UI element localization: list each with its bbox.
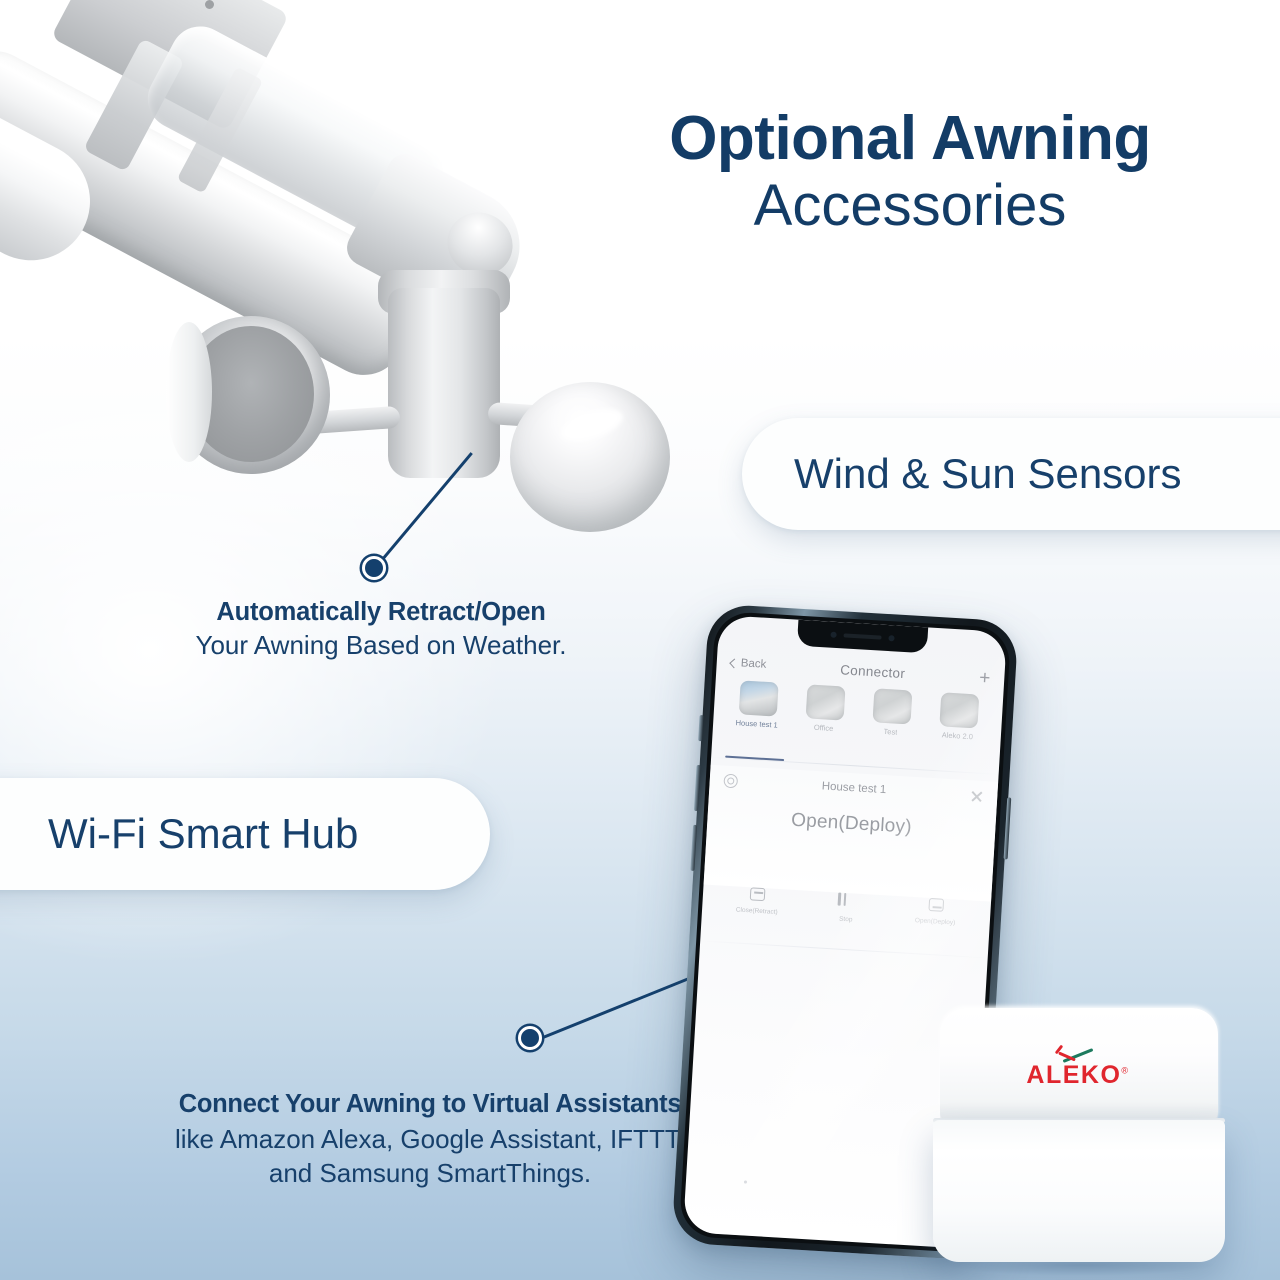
hub-front-face xyxy=(933,1120,1225,1262)
pause-icon xyxy=(837,893,856,910)
page-title: Optional Awning Accessories xyxy=(560,108,1260,243)
anemometer-cup-left-rim xyxy=(166,322,212,462)
tab-label: Office xyxy=(814,723,834,733)
tab-thumbnail-icon xyxy=(738,680,778,716)
front-camera-icon xyxy=(830,632,836,638)
open-deploy-button[interactable]: Open(Deploy) xyxy=(889,888,982,951)
callout-dot-sensors xyxy=(362,556,386,580)
tab-label: House test 1 xyxy=(735,718,778,729)
promo-graphic-canvas: Optional Awning Accessories Wind & Sun S… xyxy=(0,0,1280,1280)
close-icon[interactable] xyxy=(970,789,984,803)
tab-office[interactable]: Office xyxy=(788,683,859,759)
tab-label: Test xyxy=(883,727,897,737)
control-label: Close(Retract) xyxy=(736,906,778,915)
tab-thumbnail-icon xyxy=(872,688,912,724)
sensor-rotor-housing xyxy=(388,288,500,478)
feature-pill-wind-sun-sensors[interactable]: Wind & Sun Sensors xyxy=(742,418,1280,530)
back-button[interactable]: Back xyxy=(730,657,766,671)
aleko-roof-icon xyxy=(1048,1044,1108,1062)
caption-sensors: Automatically Retract/Open Your Awning B… xyxy=(146,596,616,663)
caption-hub-line-3: and Samsung SmartThings. xyxy=(130,1156,730,1190)
tab-aleko-2-0[interactable]: Aleko 2.0 xyxy=(922,691,993,767)
caption-hub-bold: Connect Your Awning to Virtual Assistant… xyxy=(130,1088,730,1122)
aleko-trademark-symbol: ® xyxy=(1121,1066,1129,1076)
deploy-icon xyxy=(928,898,944,912)
wifi-smart-hub-device: ALEKO® xyxy=(928,1008,1228,1270)
app-screen-title: Connector xyxy=(766,657,980,685)
close-retract-button[interactable]: Close(Retract) xyxy=(711,877,804,940)
add-device-button[interactable]: + xyxy=(979,668,991,688)
title-line-1: Optional Awning xyxy=(560,108,1260,170)
caption-hub-line-2: like Amazon Alexa, Google Assistant, IFT… xyxy=(130,1122,730,1156)
device-card-title: House test 1 xyxy=(737,775,970,801)
control-label: Stop xyxy=(839,916,853,924)
callout-dot-hub xyxy=(518,1026,542,1050)
caption-sensors-regular: Your Awning Based on Weather. xyxy=(146,629,616,663)
tab-test[interactable]: Test xyxy=(855,687,926,763)
phone-notch xyxy=(797,620,928,654)
earpiece-speaker xyxy=(843,633,881,639)
aleko-logo: ALEKO® xyxy=(928,1044,1228,1088)
aleko-brand-text: ALEKO xyxy=(1026,1061,1121,1089)
sensor-mount-screw xyxy=(205,0,214,9)
caption-hub: Connect Your Awning to Virtual Assistant… xyxy=(130,1088,730,1190)
tab-house-test-1[interactable]: House test 1 xyxy=(721,679,792,755)
chevron-left-icon xyxy=(729,658,739,668)
feature-pill-label-sensors: Wind & Sun Sensors xyxy=(794,450,1182,498)
feature-pill-wifi-smart-hub[interactable]: Wi-Fi Smart Hub xyxy=(0,778,490,890)
device-status-text: Open(Deploy) xyxy=(707,805,996,844)
tab-thumbnail-icon xyxy=(939,692,979,728)
stop-button[interactable]: Stop xyxy=(800,882,893,945)
aleko-wordmark: ALEKO® xyxy=(928,1063,1228,1088)
anemometer-cup-right xyxy=(510,382,670,532)
tab-thumbnail-icon xyxy=(805,684,845,720)
screen-speck xyxy=(744,1180,747,1183)
feature-pill-label-hub: Wi-Fi Smart Hub xyxy=(48,810,358,858)
caption-sensors-bold: Automatically Retract/Open xyxy=(146,596,616,629)
anemometer-wind-sensor-image xyxy=(0,0,720,610)
back-button-label: Back xyxy=(740,657,766,670)
title-line-2: Accessories xyxy=(560,170,1260,243)
gear-icon[interactable] xyxy=(723,774,738,789)
tab-label: Aleko 2.0 xyxy=(941,730,973,741)
retract-icon xyxy=(750,887,766,901)
control-label: Open(Deploy) xyxy=(915,917,956,926)
face-sensor-icon xyxy=(888,635,894,641)
